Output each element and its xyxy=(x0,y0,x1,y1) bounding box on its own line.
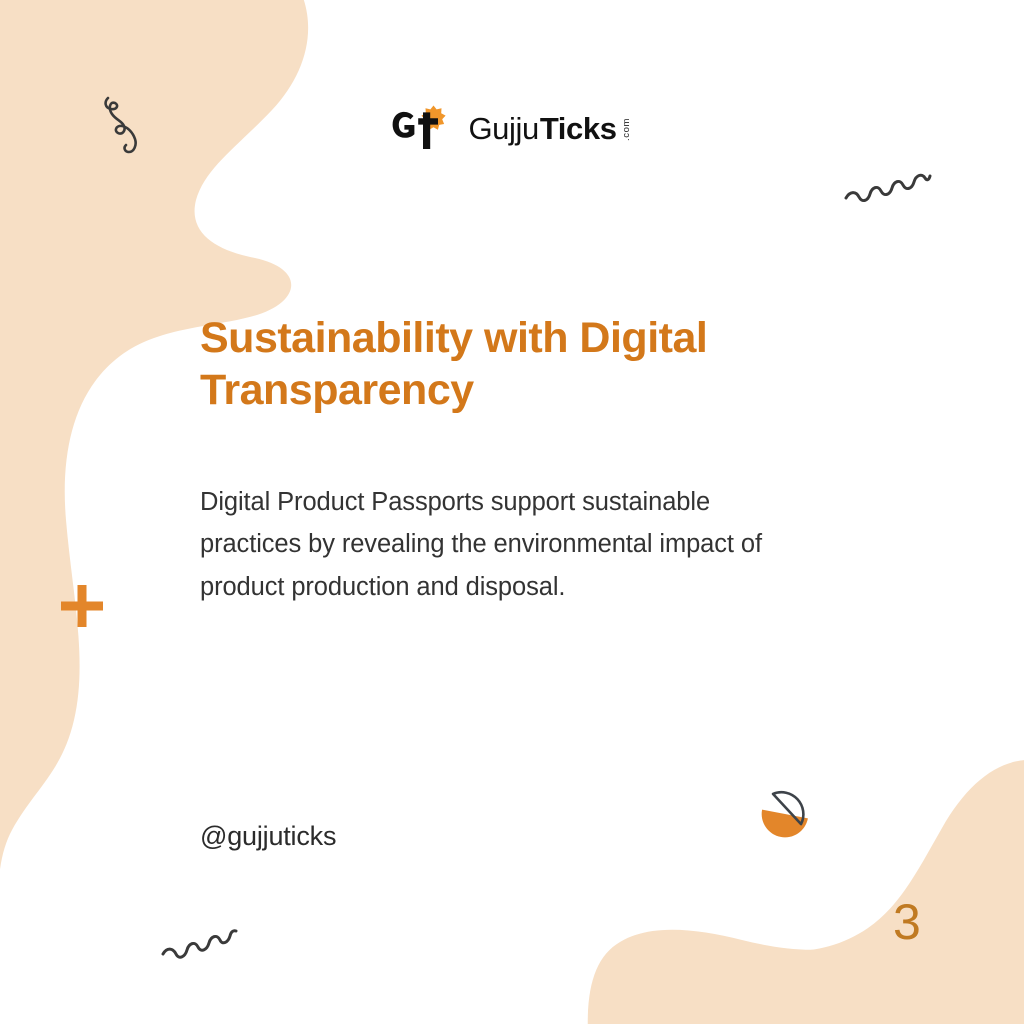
social-handle: @gujjuticks xyxy=(200,821,336,852)
page-number: 3 xyxy=(893,897,921,947)
wordmark-gujju: Gujju xyxy=(468,113,538,144)
wordmark-ticks: Ticks xyxy=(540,113,617,144)
squiggle-icon xyxy=(100,92,160,162)
wordmark-tld: .com xyxy=(621,111,632,141)
logo-wordmark: Gujju Ticks .com xyxy=(468,111,631,144)
letter-g xyxy=(393,112,415,138)
squiggle-icon xyxy=(160,898,238,960)
semicircle-pair-icon xyxy=(757,782,821,846)
slide-headline: Sustainability with Digital Transparency xyxy=(200,312,800,417)
slide-body-text: Digital Product Passports support sustai… xyxy=(200,481,762,608)
slide-canvas: Gujju Ticks .com Sustainability with Dig… xyxy=(0,0,1024,1024)
squiggle-icon xyxy=(843,142,933,204)
gt-monogram-icon xyxy=(392,104,454,150)
plus-icon xyxy=(58,582,106,630)
